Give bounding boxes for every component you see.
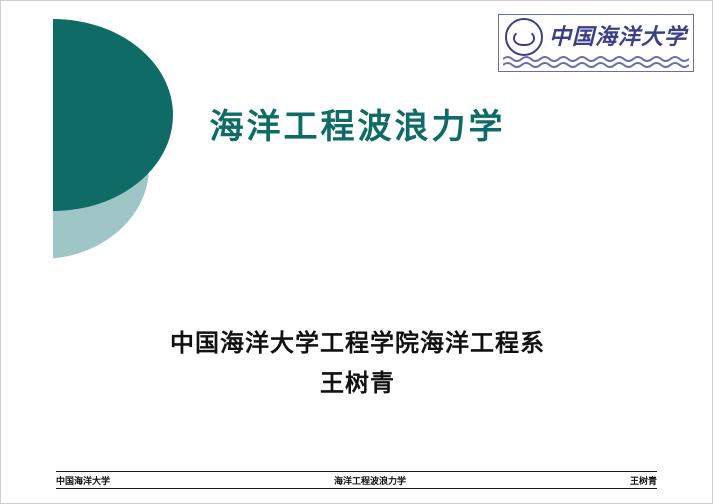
footer-center-text: 海洋工程波浪力学 [110, 474, 630, 487]
subtitle-block: 中国海洋大学工程学院海洋工程系 王树青 [1, 323, 713, 403]
page-title: 海洋工程波浪力学 [1, 99, 713, 148]
footer-left-text: 中国海洋大学 [56, 474, 110, 487]
affiliation-text: 中国海洋大学工程学院海洋工程系 [1, 323, 713, 363]
logo-text: 中国海洋大学 [549, 19, 687, 51]
slide-footer: 中国海洋大学 海洋工程波浪力学 王树青 [56, 471, 657, 489]
presentation-slide: 中国海洋大学 海洋工程波浪力学 中国海洋大学工程学院海洋工程系 王树青 中国海洋… [0, 0, 713, 504]
footer-right-text: 王树青 [630, 474, 657, 487]
ocean-university-logo: 中国海洋大学 [498, 14, 694, 72]
logo-inner: 中国海洋大学 [499, 15, 693, 71]
university-seal-icon [505, 18, 543, 56]
author-text: 王树青 [1, 363, 713, 403]
wave-pattern-icon [503, 55, 689, 68]
